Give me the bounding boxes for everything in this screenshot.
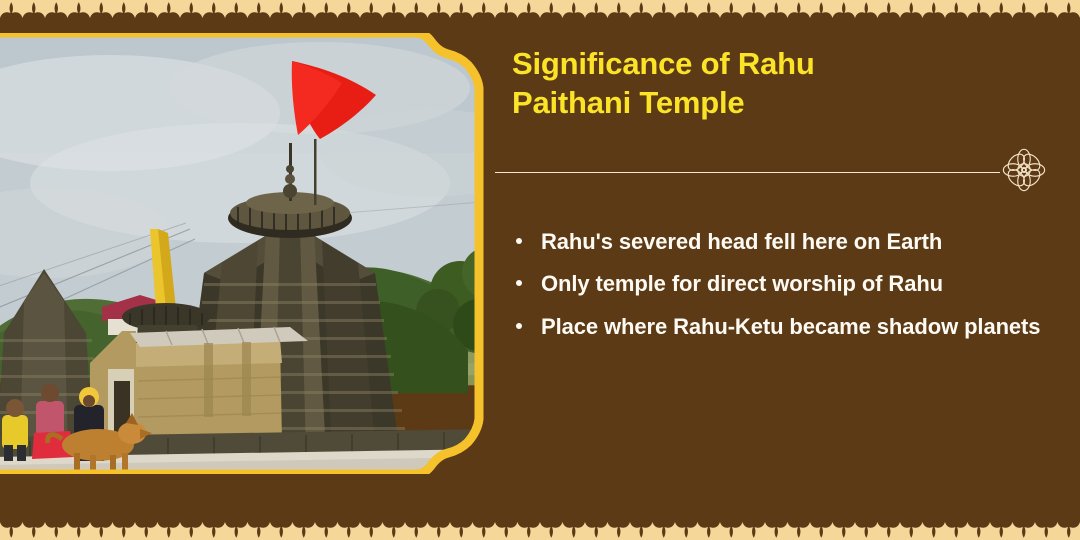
visitor-yellow	[2, 415, 28, 449]
horizontal-rule-icon	[495, 172, 1000, 173]
infographic-canvas: Significance of Rahu Paithani Temple	[0, 0, 1080, 540]
scalloped-petal-border-icon	[0, 0, 1080, 30]
temple-photo	[0, 33, 495, 474]
page-title: Significance of Rahu Paithani Temple	[512, 44, 1057, 122]
header-block: Significance of Rahu Paithani Temple	[512, 44, 1057, 122]
title-line-1: Significance of Rahu	[512, 46, 815, 81]
title-line-2: Paithani Temple	[512, 85, 744, 120]
list-item: Rahu's severed head fell here on Earth	[508, 227, 1068, 256]
photo-clip-mask	[0, 33, 495, 474]
list-item: Only temple for direct worship of Rahu	[508, 269, 1068, 298]
scalloped-petal-border-icon	[0, 510, 1080, 540]
bottom-decorative-border	[0, 510, 1080, 540]
list-item: Place where Rahu-Ketu became shadow plan…	[508, 312, 1068, 341]
top-decorative-border	[0, 0, 1080, 30]
mandala-rosette-icon	[1000, 146, 1056, 202]
significance-bullet-list: Rahu's severed head fell here on Earth O…	[508, 227, 1068, 354]
mandala-rosette-glyph	[1000, 146, 1048, 194]
divider	[495, 172, 1060, 174]
